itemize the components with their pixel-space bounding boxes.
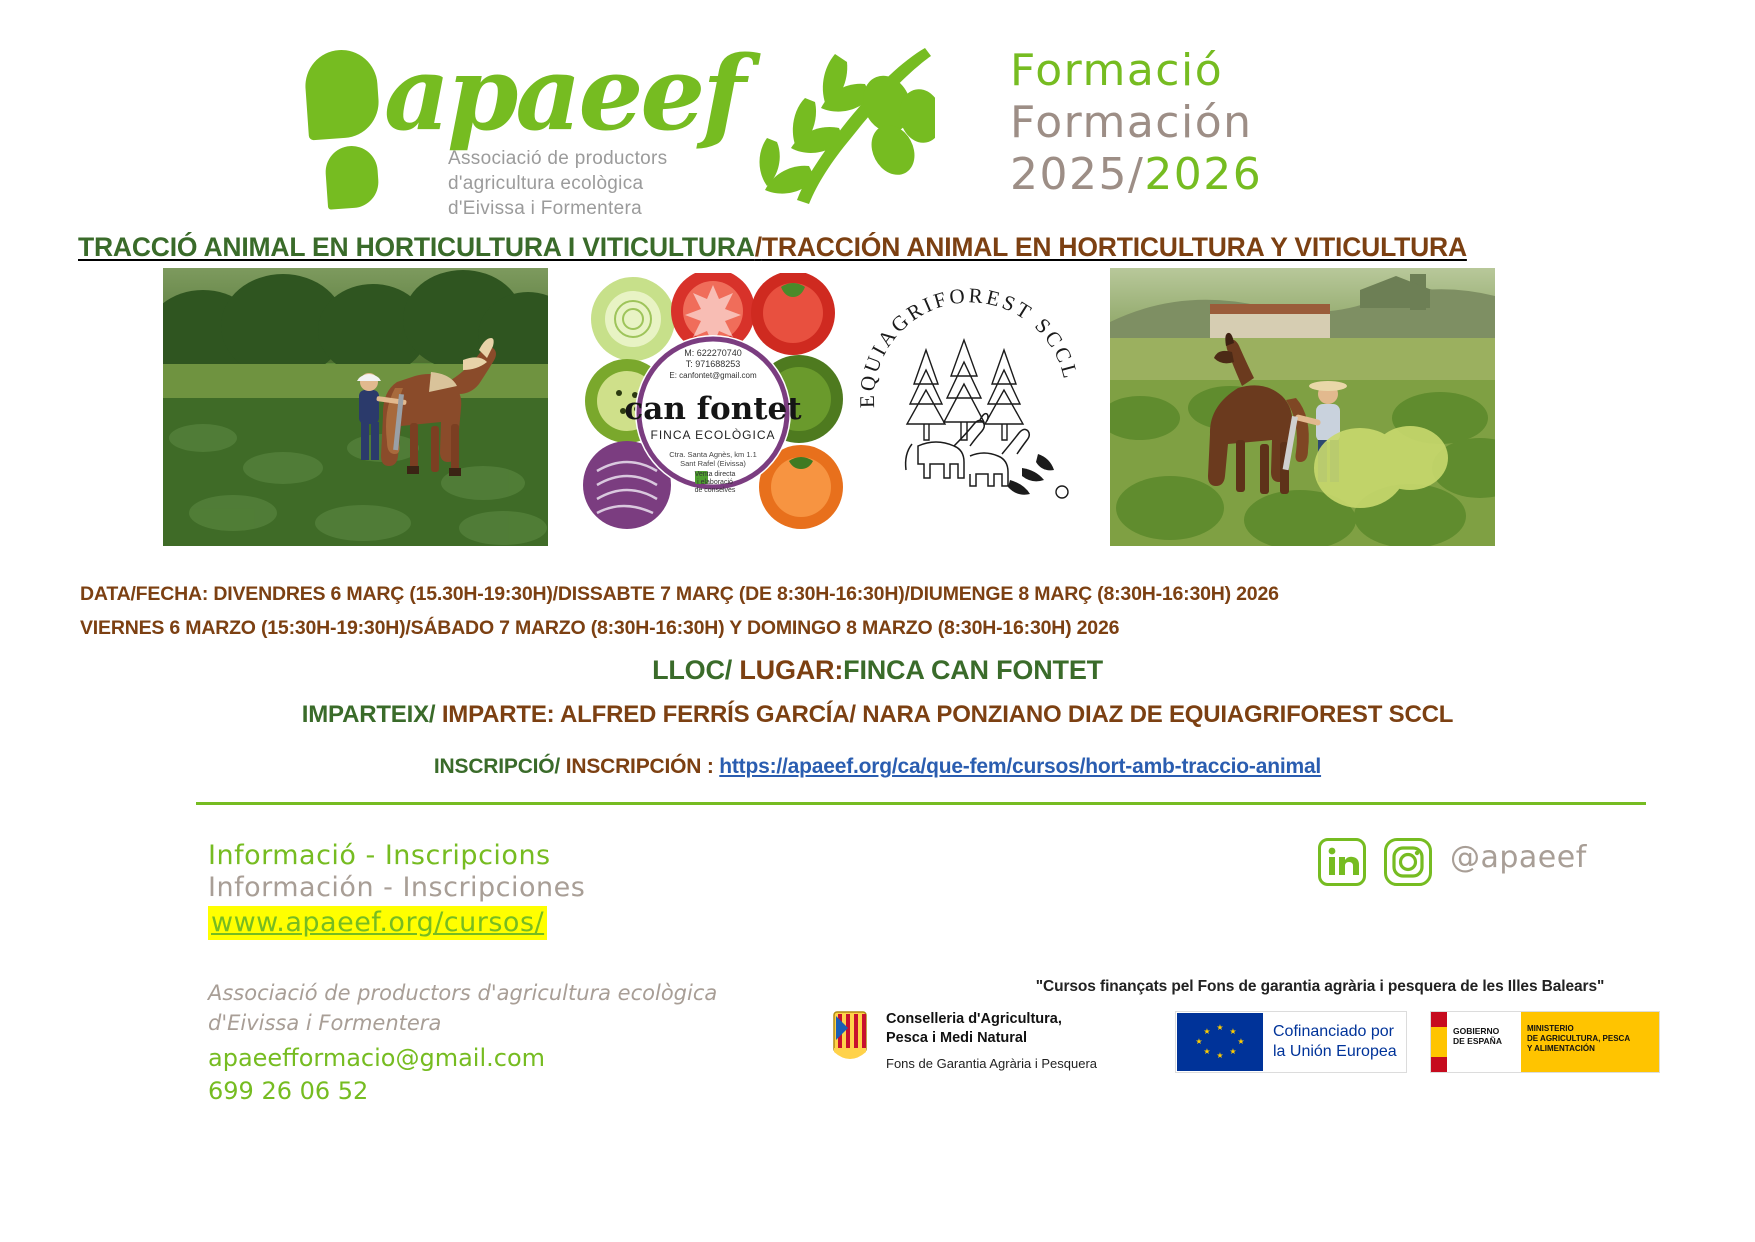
poster-header: apaeef Associació de productors d'agricu… <box>0 0 1755 228</box>
page-title-ca: TRACCIÓ ANIMAL EN HORTICULTURA I VITICUL… <box>78 232 755 262</box>
eu-flag-icon: ★ ★ ★ ★ ★ ★ ★ ★ <box>1177 1013 1263 1071</box>
course-location-label-es: LUGAR: <box>732 655 843 685</box>
formacio-year-second: 2026 <box>1144 149 1262 200</box>
course-signup: INSCRIPCIÓ/ INSCRIPCIÓN : https://apaeef… <box>0 755 1755 779</box>
svg-text:can fontet: can fontet <box>624 391 802 427</box>
ministerio-line1: MINISTERIO <box>1521 1012 1659 1034</box>
conselleria-line3: Fons de Garantia Agrària i Pesquera <box>886 1054 1136 1073</box>
instagram-icon[interactable] <box>1384 838 1432 886</box>
svg-text:★: ★ <box>1195 1037 1202 1046</box>
apaeef-tagline: Associació de productors d'agricultura e… <box>448 146 667 221</box>
svg-text:Ctra. Santa Agnès, km 1.1: Ctra. Santa Agnès, km 1.1 <box>669 450 757 459</box>
can-fontet-logo: M: 622270740 T: 971688253 E: canfontet@g… <box>575 273 850 538</box>
signup-colon: : <box>701 755 719 778</box>
contact-phone[interactable]: 699 26 06 52 <box>208 1075 848 1108</box>
european-union-logo: ★ ★ ★ ★ ★ ★ ★ ★ Cofinanciado por la Unió… <box>1175 1011 1407 1073</box>
signup-url-link[interactable]: https://apaeef.org/ca/que-fem/cursos/hor… <box>719 755 1321 778</box>
formacio-ca: Formació <box>1010 45 1310 97</box>
svg-text:★: ★ <box>1216 1051 1223 1060</box>
svg-text:de conselves: de conselves <box>695 487 736 494</box>
conselleria-line1: Conselleria d'Agricultura, <box>886 1010 1136 1029</box>
ministerio-line3: Y ALIMENTACIÓN <box>1521 1044 1659 1054</box>
footer-divider <box>196 802 1646 805</box>
course-teacher-label-ca: IMPARTEIX/ <box>302 701 436 728</box>
apaeef-tagline-line2: d'agricultura ecològica <box>448 171 667 196</box>
apaeef-tagline-line3: d'Eivissa i Formentera <box>448 196 667 221</box>
contact-email[interactable]: apaeefformacio@gmail.com <box>208 1042 848 1075</box>
conselleria-line2: Pesca i Medi Natural <box>886 1029 1136 1048</box>
org-name-line2: d'Eivissa i Formentera <box>208 1008 848 1038</box>
signup-label-ca: INSCRIPCIÓ/ <box>434 755 566 778</box>
conselleria-text: Conselleria d'Agricultura, Pesca i Medi … <box>886 1010 1136 1073</box>
signup-label-es: INSCRIPCIÓN <box>566 755 701 778</box>
formacio-title: Formació Formación 2025/2026 <box>1010 45 1310 201</box>
svg-text:FINCA ECOLÒGICA: FINCA ECOLÒGICA <box>650 427 775 442</box>
contact-heading-es: Información - Inscripciones <box>208 872 848 904</box>
formacio-es: Formación <box>1010 97 1310 149</box>
contact-block: Informació - Inscripcions Información - … <box>208 840 848 1108</box>
page-title-es: TRACCIÓN ANIMAL EN HORTICULTURA Y VITICU… <box>762 232 1467 262</box>
course-location-label-ca: LLOC/ <box>652 655 732 685</box>
apaeef-logo: apaeef Associació de productors d'agricu… <box>300 42 720 222</box>
svg-text:★: ★ <box>1229 1027 1236 1036</box>
svg-text:★: ★ <box>1229 1047 1236 1056</box>
gobierno-block: GOBIERNO DE ESPAÑA <box>1447 1012 1521 1072</box>
page-title: TRACCIÓ ANIMAL EN HORTICULTURA I VITICUL… <box>78 230 1678 264</box>
svg-text:★: ★ <box>1237 1037 1244 1046</box>
eu-label: Cofinanciado por la Unión Europea <box>1263 1022 1397 1062</box>
svg-text:Sant Rafel (Eivissa): Sant Rafel (Eivissa) <box>680 459 746 468</box>
svg-text:★: ★ <box>1203 1047 1210 1056</box>
course-location: LLOC/ LUGAR:FINCA CAN FONTET <box>0 655 1755 686</box>
funding-note: "Cursos finançats pel Fons de garantia a… <box>1005 978 1635 996</box>
org-name-line1: Associació de productors d'agricultura e… <box>208 978 848 1008</box>
equiagriforest-sccl-logo: EQUIAGRIFOREST SCCL <box>852 278 1087 523</box>
ministerio-line2: DE AGRICULTURA, PESCA <box>1521 1034 1659 1044</box>
institutional-logos: Conselleria d'Agricultura, Pesca i Medi … <box>830 1008 1660 1088</box>
svg-text:★: ★ <box>1203 1027 1210 1036</box>
gobierno-line1: GOBIERNO <box>1447 1012 1521 1036</box>
svg-text:M: 622270740: M: 622270740 <box>684 348 742 358</box>
svg-text:E: canfontet@gmail.com: E: canfontet@gmail.com <box>669 371 757 380</box>
page-title-separator: / <box>755 232 762 262</box>
course-teacher-label-es: IMPARTE: ALFRED FERRÍS GARCÍA/ NARA PONZ… <box>435 701 1453 728</box>
course-date-es: VIERNES 6 MARZO (15:30H-19:30H)/SÁBADO 7… <box>80 617 1700 640</box>
apaeef-tagline-line1: Associació de productors <box>448 146 667 171</box>
eu-line1: Cofinanciado por <box>1273 1022 1397 1042</box>
eu-line2: la Unión Europea <box>1273 1042 1397 1062</box>
formacio-year-first: 2025/ <box>1010 149 1144 200</box>
horse-plough-vegetable-field-photo <box>163 268 548 546</box>
spain-flag-icon <box>1431 1012 1447 1072</box>
gobierno-line2: DE ESPAÑA <box>1447 1036 1521 1046</box>
svg-text:T: 971688253: T: 971688253 <box>686 359 741 369</box>
svg-text:EQUIAGRIFOREST SCCL: EQUIAGRIFOREST SCCL <box>855 283 1083 408</box>
svg-text:i elaboració: i elaboració <box>697 479 733 486</box>
formacio-year: 2025/2026 <box>1010 149 1310 201</box>
social-handle: @apaeef <box>1450 840 1587 875</box>
conselleria-agricultura-logo: Conselleria d'Agricultura, Pesca i Medi … <box>830 1008 1130 1078</box>
apaeef-wordmark: apaeef <box>384 42 743 146</box>
course-location-value: FINCA CAN FONTET <box>843 655 1103 685</box>
ministerio-block: MINISTERIO DE AGRICULTURA, PESCA Y ALIME… <box>1521 1012 1659 1072</box>
svg-text:Venta directa: Venta directa <box>695 471 736 478</box>
course-date-ca: DATA/FECHA: DIVENDRES 6 MARÇ (15.30H-19:… <box>80 583 1700 606</box>
svg-text:★: ★ <box>1216 1023 1223 1032</box>
gobierno-espana-logo: GOBIERNO DE ESPAÑA MINISTERIO DE AGRICUL… <box>1430 1011 1660 1073</box>
horse-plough-vineyard-photo <box>1110 268 1495 546</box>
website-link[interactable]: www.apaeef.org/cursos/ <box>208 906 547 940</box>
poster-footer: Informació - Inscripcions Información - … <box>0 830 1755 1242</box>
social-links: @apaeef <box>1318 838 1738 898</box>
course-teacher: IMPARTEIX/ IMPARTE: ALFRED FERRÍS GARCÍA… <box>0 701 1755 729</box>
leaf-icon <box>300 50 386 200</box>
linkedin-icon[interactable] <box>1318 838 1366 886</box>
olive-branch-icon <box>715 42 935 207</box>
image-strip: M: 622270740 T: 971688253 E: canfontet@g… <box>0 268 1755 553</box>
contact-heading-ca: Informació - Inscripcions <box>208 840 848 872</box>
